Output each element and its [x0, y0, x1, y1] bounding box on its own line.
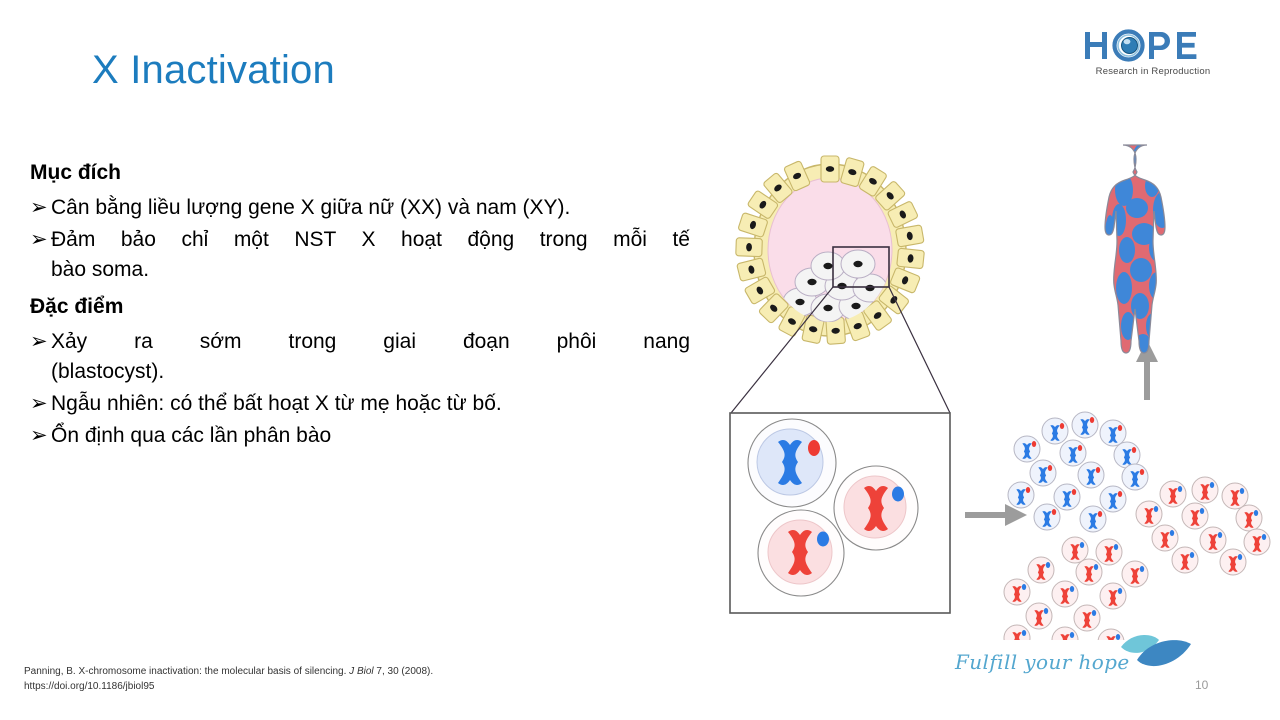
blastocyst	[736, 156, 925, 344]
bullet-text: Cân bằng liều lượng gene X giữa nữ (XX) …	[51, 193, 690, 223]
bullet-line: (XY).	[523, 196, 571, 219]
bullet-line: Cân bằng liều lượng gene X giữa nữ (XX) …	[51, 196, 517, 219]
bullet-item: ➢ Cân bằng liều lượng gene X giữa nữ (XX…	[30, 193, 690, 223]
cell-active-paternal-x-bottom	[758, 510, 844, 596]
cell-active-paternal-x-right	[834, 466, 918, 550]
mosaic-female-body	[1105, 140, 1195, 355]
barr-body-blue	[817, 532, 829, 547]
page-title: X Inactivation	[92, 48, 335, 93]
bullet-marker-icon: ➢	[30, 225, 51, 255]
figure-svg	[700, 130, 1280, 640]
citation-line-1: Panning, B. X-chromosome inactivation: t…	[24, 664, 544, 679]
bullet-item: ➢ Xảy ra sớm trong giai đoạn phôi nang (…	[30, 327, 690, 387]
bullet-text: Ngẫu nhiên: có thể bất hoạt X từ mẹ hoặc…	[51, 389, 690, 419]
content-body: Mục đích ➢ Cân bằng liều lượng gene X gi…	[30, 160, 690, 452]
three-cell-inset	[730, 413, 950, 613]
bullet-item: ➢ Ngẫu nhiên: có thể bất hoạt X từ mẹ ho…	[30, 389, 690, 419]
bullet-line: bào soma.	[51, 258, 149, 281]
x-inactivation-figure	[700, 130, 1280, 640]
bullet-marker-icon: ➢	[30, 327, 51, 357]
footer-slogan: Fulfill your hope	[955, 650, 1130, 674]
bullet-marker-icon: ➢	[30, 389, 51, 419]
bullet-line: Ngẫu nhiên: có thể bất hoạt X từ mẹ hoặc…	[51, 392, 502, 415]
section-dac-diem: Đặc điểm ➢ Xảy ra sớm trong giai đoạn ph…	[30, 294, 690, 450]
bullet-text: Xảy ra sớm trong giai đoạn phôi nang (bl…	[51, 327, 690, 387]
bullet-marker-icon: ➢	[30, 193, 51, 223]
cluster-red-right	[1136, 477, 1270, 575]
bullet-line: (blastocyst).	[51, 360, 164, 383]
hope-logo: Research in Reproduction	[1083, 28, 1223, 84]
cluster-blue	[1008, 412, 1148, 532]
barr-body-blue	[892, 487, 904, 502]
bullet-text: Đảm bảo chỉ một NST X hoạt động trong mỗ…	[51, 225, 690, 285]
section-muc-dich: Mục đích ➢ Cân bằng liều lượng gene X gi…	[30, 160, 690, 284]
hope-tagline: Research in Reproduction	[1083, 66, 1223, 77]
citation-text-post: 7, 30 (2008).	[374, 666, 433, 677]
bullet-text: Ổn định qua các lần phân bào	[51, 421, 690, 451]
bullet-item: ➢ Đảm bảo chỉ một NST X hoạt động trong …	[30, 225, 690, 285]
citation-doi-link[interactable]: https://doi.org/10.1186/jbiol95	[24, 679, 544, 694]
barr-body-red	[808, 440, 820, 456]
bullet-marker-icon: ➢	[30, 421, 51, 451]
citation-journal: J Biol	[349, 666, 373, 677]
citation: Panning, B. X-chromosome inactivation: t…	[24, 664, 544, 694]
citation-text-pre: Panning, B. X-chromosome inactivation: t…	[24, 666, 349, 677]
clonal-cell-clusters	[1004, 412, 1270, 640]
bullet-line: Ổn định qua các lần phân bào	[51, 424, 331, 447]
section-heading: Mục đích	[30, 160, 690, 187]
bullet-item: ➢ Ổn định qua các lần phân bào	[30, 421, 690, 451]
bullet-line: Xảy ra sớm trong giai đoạn phôi nang	[51, 327, 690, 357]
cluster-red-lower	[1004, 537, 1148, 640]
hope-wordmark-icon	[1083, 28, 1223, 64]
bullet-line: Đảm bảo chỉ một NST X hoạt động trong mỗ…	[51, 225, 690, 255]
page-number: 10	[1195, 678, 1208, 692]
cell-active-maternal-x	[748, 419, 836, 507]
section-heading: Đặc điểm	[30, 294, 690, 321]
